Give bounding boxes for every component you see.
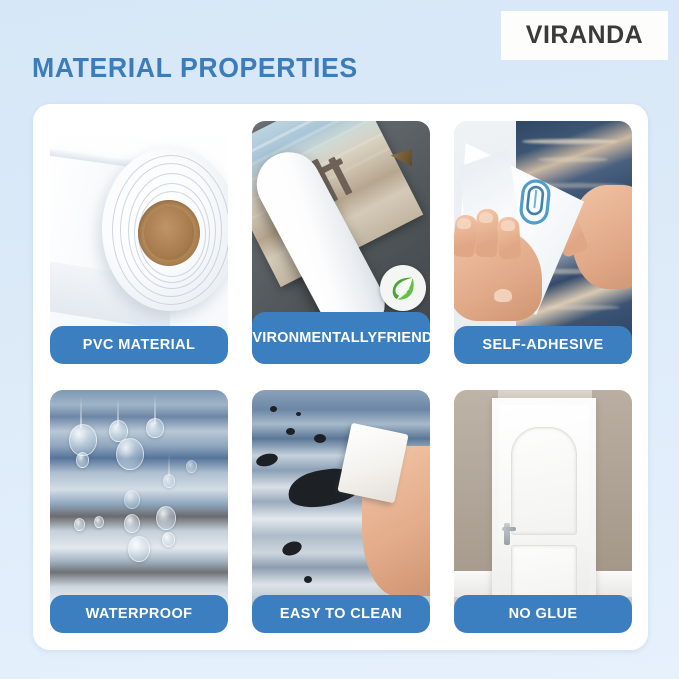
card-label-line2: FRIENDLY bbox=[377, 330, 430, 346]
paperclip-icon bbox=[515, 175, 554, 228]
card-label-no-glue: NO GLUE bbox=[454, 595, 632, 633]
feature-card-no-glue[interactable]: NO GLUE bbox=[454, 390, 632, 633]
card-label-environmentally-friendly: ENVIRONMENTALLY FRIENDLY bbox=[252, 312, 430, 364]
feature-card-environmentally-friendly[interactable]: ENVIRONMENTALLY FRIENDLY bbox=[252, 121, 430, 364]
brand-name: VIRANDA bbox=[526, 21, 643, 50]
white-door bbox=[499, 405, 589, 598]
card-label-self-adhesive: SELF-ADHESIVE bbox=[454, 326, 632, 364]
feature-card-easy-to-clean[interactable]: EASY TO CLEAN bbox=[252, 390, 430, 633]
paperclip-badge bbox=[515, 175, 554, 228]
feature-card-self-adhesive[interactable]: SELF-ADHESIVE bbox=[454, 121, 632, 364]
card-label-waterproof: WATERPROOF bbox=[50, 595, 228, 633]
feature-card-grid: PVC MATERIAL bbox=[50, 121, 632, 633]
card-label-line1: ENVIRONMENTALLY bbox=[252, 330, 377, 346]
card-label-easy-to-clean: EASY TO CLEAN bbox=[252, 595, 430, 633]
infographic-root: VIRANDA MATERIAL PROPERTIES PV bbox=[0, 0, 679, 679]
leaf-badge bbox=[380, 265, 426, 311]
card-label-pvc-material: PVC MATERIAL bbox=[50, 326, 228, 364]
brand-logo-box: VIRANDA bbox=[501, 11, 668, 60]
feature-card-waterproof[interactable]: WATERPROOF bbox=[50, 390, 228, 633]
feature-card-pvc-material[interactable]: PVC MATERIAL bbox=[50, 121, 228, 364]
door-frame bbox=[492, 398, 596, 598]
leaf-icon bbox=[388, 273, 418, 303]
page-title: MATERIAL PROPERTIES bbox=[32, 52, 358, 84]
